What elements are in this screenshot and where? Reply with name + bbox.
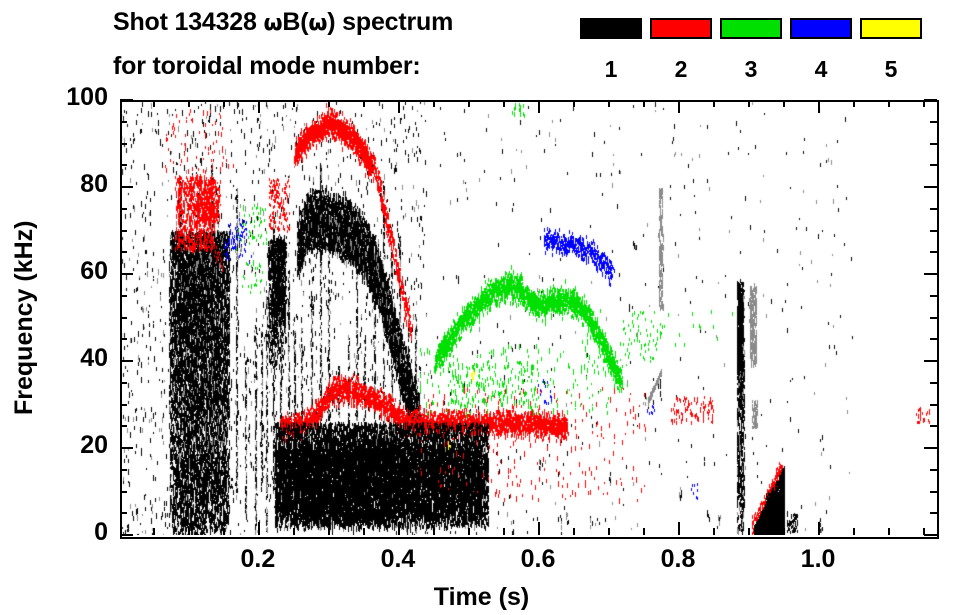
plot-frame-border [120,100,939,539]
x-tick-top-1.1 [888,100,890,107]
y-tick-right-30 [930,404,937,406]
x-tick-0.8 [678,522,680,535]
x-tick-0.25 [293,528,295,535]
y-tick-right-5 [930,512,937,514]
x-tick-label-0.8: 0.8 [638,545,718,574]
y-tick-right-60 [924,273,937,275]
y-tick-45 [120,338,127,340]
x-tick-0.05 [153,528,155,535]
x-tick-top-1.15 [923,100,925,107]
y-tick-35 [120,382,127,384]
x-tick-0.2 [258,522,260,535]
x-tick-0.55 [503,528,505,535]
omega-symbol-2: ω [308,11,327,36]
x-tick-top-0.05 [153,100,155,107]
y-tick-right-75 [930,208,937,210]
y-tick-100 [120,99,133,101]
x-tick-0.95 [783,528,785,535]
x-tick-0.6 [538,522,540,535]
y-tick-40 [120,360,133,362]
x-tick-top-0.15 [223,100,225,107]
y-tick-15 [120,469,127,471]
x-tick-label-1.0: 1.0 [778,545,858,574]
y-tick-60 [120,273,133,275]
legend-swatch-mode-2 [650,18,712,39]
y-tick-label-60: 60 [30,257,108,286]
x-tick-label-0.4: 0.4 [358,545,438,574]
x-tick-top-0.3 [328,100,330,107]
x-tick-top-0.2 [258,100,260,113]
y-tick-30 [120,404,127,406]
x-tick-1.1 [888,528,890,535]
figure-title-line-2: for toroidal mode number: [113,52,421,81]
figure-title-line-1: Shot 134328 ωB(ω) spectrum [113,8,453,37]
y-tick-right-100 [924,99,937,101]
y-tick-right-10 [930,491,937,493]
y-tick-50 [120,317,127,319]
x-tick-1.05 [853,528,855,535]
y-tick-10 [120,491,127,493]
y-tick-right-55 [930,295,937,297]
x-tick-top-0.1 [188,100,190,107]
x-tick-top-0.65 [573,100,575,107]
y-tick-75 [120,208,127,210]
x-tick-top-0.85 [713,100,715,107]
y-tick-70 [120,230,127,232]
legend-swatch-mode-5 [860,18,922,39]
y-tick-right-15 [930,469,937,471]
legend-label-mode-3: 3 [720,56,782,83]
x-tick-0.75 [643,528,645,535]
y-tick-label-20: 20 [30,431,108,460]
x-tick-0.1 [188,528,190,535]
x-tick-0.15 [223,528,225,535]
y-tick-right-90 [930,143,937,145]
y-tick-right-85 [930,164,937,166]
y-tick-label-80: 80 [30,170,108,199]
y-axis-title: Frequency (kHz) [10,221,39,415]
x-tick-1 [818,522,820,535]
x-tick-label-0.6: 0.6 [498,545,578,574]
title-spectrum-text: ) spectrum [327,8,453,36]
legend-swatch-mode-1 [580,18,642,39]
y-tick-95 [120,121,127,123]
y-tick-right-0 [924,534,937,536]
omega-symbol-1: ω [263,11,282,36]
y-tick-right-80 [924,186,937,188]
y-tick-85 [120,164,127,166]
x-tick-0.3 [328,528,330,535]
title-b-text: B( [282,8,308,36]
y-tick-label-100: 100 [30,83,108,112]
legend-label-mode-1: 1 [580,56,642,83]
y-tick-right-20 [924,447,937,449]
x-tick-0.4 [398,522,400,535]
x-tick-top-0.4 [398,100,400,113]
legend-label-mode-4: 4 [790,56,852,83]
y-tick-right-25 [930,425,937,427]
y-tick-5 [120,512,127,514]
y-tick-right-45 [930,338,937,340]
x-tick-top-0.35 [363,100,365,107]
x-tick-0.65 [573,528,575,535]
x-tick-top-0.45 [433,100,435,107]
y-tick-25 [120,425,127,427]
x-tick-top-1.05 [853,100,855,107]
x-tick-top-0.8 [678,100,680,113]
legend-label-mode-2: 2 [650,56,712,83]
x-tick-top-1 [818,100,820,113]
x-tick-0.85 [713,528,715,535]
y-tick-right-35 [930,382,937,384]
x-tick-0.5 [468,528,470,535]
y-tick-55 [120,295,127,297]
x-tick-0.35 [363,528,365,535]
title-shot-text: Shot 134328 [113,8,263,36]
y-tick-right-50 [930,317,937,319]
x-tick-top-0.25 [293,100,295,107]
y-tick-80 [120,186,133,188]
x-tick-top-0.95 [783,100,785,107]
x-tick-top-0.5 [468,100,470,107]
y-tick-0 [120,534,133,536]
x-tick-label-0.2: 0.2 [218,545,298,574]
y-tick-65 [120,251,127,253]
x-tick-0.9 [748,528,750,535]
y-tick-90 [120,143,127,145]
y-tick-label-0: 0 [30,518,108,547]
x-tick-0.7 [608,528,610,535]
x-tick-top-0.75 [643,100,645,107]
x-tick-top-0.9 [748,100,750,107]
legend-swatch-mode-4 [790,18,852,39]
x-tick-top-0.6 [538,100,540,113]
x-axis-title: Time (s) [0,583,963,612]
y-tick-right-95 [930,121,937,123]
spectrogram-figure: Shot 134328 ωB(ω) spectrum for toroidal … [0,0,963,615]
y-tick-label-40: 40 [30,344,108,373]
y-tick-right-65 [930,251,937,253]
y-tick-right-40 [924,360,937,362]
legend-label-mode-5: 5 [860,56,922,83]
x-tick-0.45 [433,528,435,535]
y-tick-20 [120,447,133,449]
x-tick-top-0.55 [503,100,505,107]
y-tick-right-70 [930,230,937,232]
x-tick-top-0.7 [608,100,610,107]
legend-swatch-mode-3 [720,18,782,39]
